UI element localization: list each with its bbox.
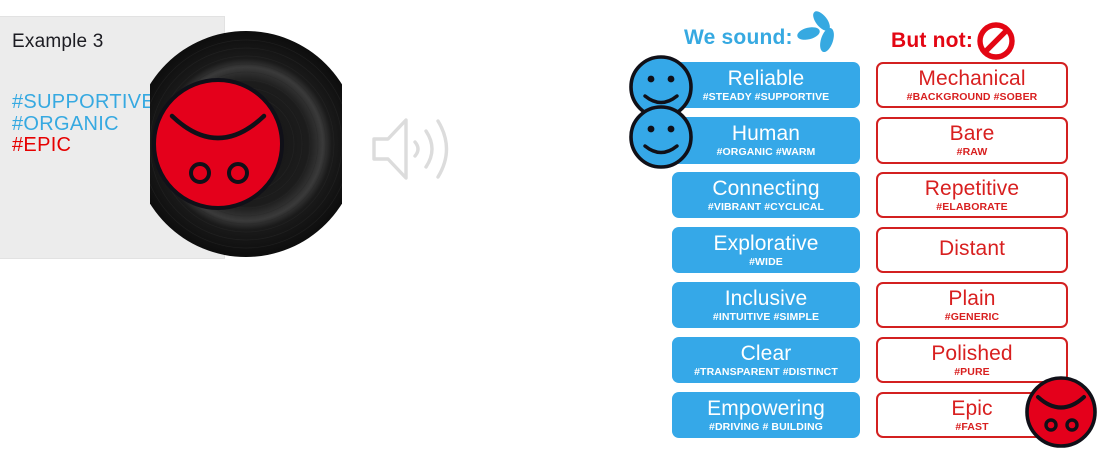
chip-title: Human	[732, 123, 800, 144]
red-sad-face-icon	[1024, 375, 1098, 449]
chip-tags: #FAST	[955, 422, 988, 433]
chip-empowering[interactable]: Empowering #DRIVING # BUILDING	[672, 392, 860, 438]
chip-repetitive[interactable]: Repetitive #ELABORATE	[876, 172, 1068, 218]
chip-title: Polished	[931, 343, 1012, 364]
chip-title: Reliable	[728, 68, 805, 89]
speaker-sound-icon	[368, 112, 458, 186]
chip-human[interactable]: Human #ORGANIC #WARM	[672, 117, 860, 164]
chip-title: Connecting	[712, 178, 819, 199]
chip-title: Repetitive	[925, 178, 1019, 199]
column-header-but-not-label: But not:	[891, 29, 973, 53]
tag-organic: #ORGANIC	[12, 114, 155, 136]
chip-title: Bare	[950, 123, 995, 144]
vinyl-record-graphic	[150, 31, 342, 257]
tag-supportive: #SUPPORTIVE	[12, 92, 155, 114]
chip-title: Mechanical	[918, 68, 1025, 89]
chip-tags: #RAW	[957, 147, 988, 158]
chip-tags: #TRANSPARENT #DISTINCT	[694, 367, 838, 378]
chip-title: Plain	[948, 288, 995, 309]
tag-list: #SUPPORTIVE #ORGANIC #EPIC	[12, 92, 155, 157]
telenor-propeller-logo	[795, 9, 847, 53]
column-header-we-sound: We sound:	[684, 23, 847, 53]
chip-tags: #ORGANIC #WARM	[717, 147, 816, 158]
chip-tags: #BACKGROUND #SOBER	[907, 92, 1038, 103]
chip-connecting[interactable]: Connecting #VIBRANT #CYCLICAL	[672, 172, 860, 218]
chip-title: Epic	[951, 398, 992, 419]
column-header-we-sound-label: We sound:	[684, 26, 793, 50]
chip-tags: #PURE	[954, 367, 990, 378]
page-title: Example 3	[12, 31, 104, 53]
chip-mechanical[interactable]: Mechanical #BACKGROUND #SOBER	[876, 62, 1068, 108]
chip-tags: #VIBRANT #CYCLICAL	[708, 202, 824, 213]
chip-title: Distant	[939, 238, 1005, 259]
chip-bare[interactable]: Bare #RAW	[876, 117, 1068, 164]
prohibition-no-entry-icon	[977, 22, 1015, 60]
chip-tags: #STEADY #SUPPORTIVE	[703, 92, 830, 103]
chip-explorative[interactable]: Explorative #WIDE	[672, 227, 860, 273]
chip-title: Clear	[741, 343, 792, 364]
chip-title: Explorative	[714, 233, 819, 254]
red-sad-face-icon	[150, 76, 286, 212]
chip-title: Empowering	[707, 398, 825, 419]
chip-clear[interactable]: Clear #TRANSPARENT #DISTINCT	[672, 337, 860, 383]
sound-attributes-chart: We sound: But not:	[620, 0, 1100, 475]
chip-tags: #WIDE	[749, 257, 783, 268]
chip-inclusive[interactable]: Inclusive #INTUITIVE #SIMPLE	[672, 282, 860, 328]
blue-smiley-face-icon	[628, 104, 694, 170]
chip-tags: #ELABORATE	[936, 202, 1007, 213]
chip-tags: #INTUITIVE #SIMPLE	[713, 312, 819, 323]
tag-epic: #EPIC	[12, 135, 155, 157]
chip-tags: #DRIVING # BUILDING	[709, 422, 823, 433]
chip-reliable[interactable]: Reliable #STEADY #SUPPORTIVE	[672, 62, 860, 108]
chip-plain[interactable]: Plain #GENERIC	[876, 282, 1068, 328]
chip-title: Inclusive	[725, 288, 808, 309]
chip-tags: #GENERIC	[945, 312, 999, 323]
column-header-but-not: But not:	[891, 22, 1015, 60]
chip-distant[interactable]: Distant	[876, 227, 1068, 273]
